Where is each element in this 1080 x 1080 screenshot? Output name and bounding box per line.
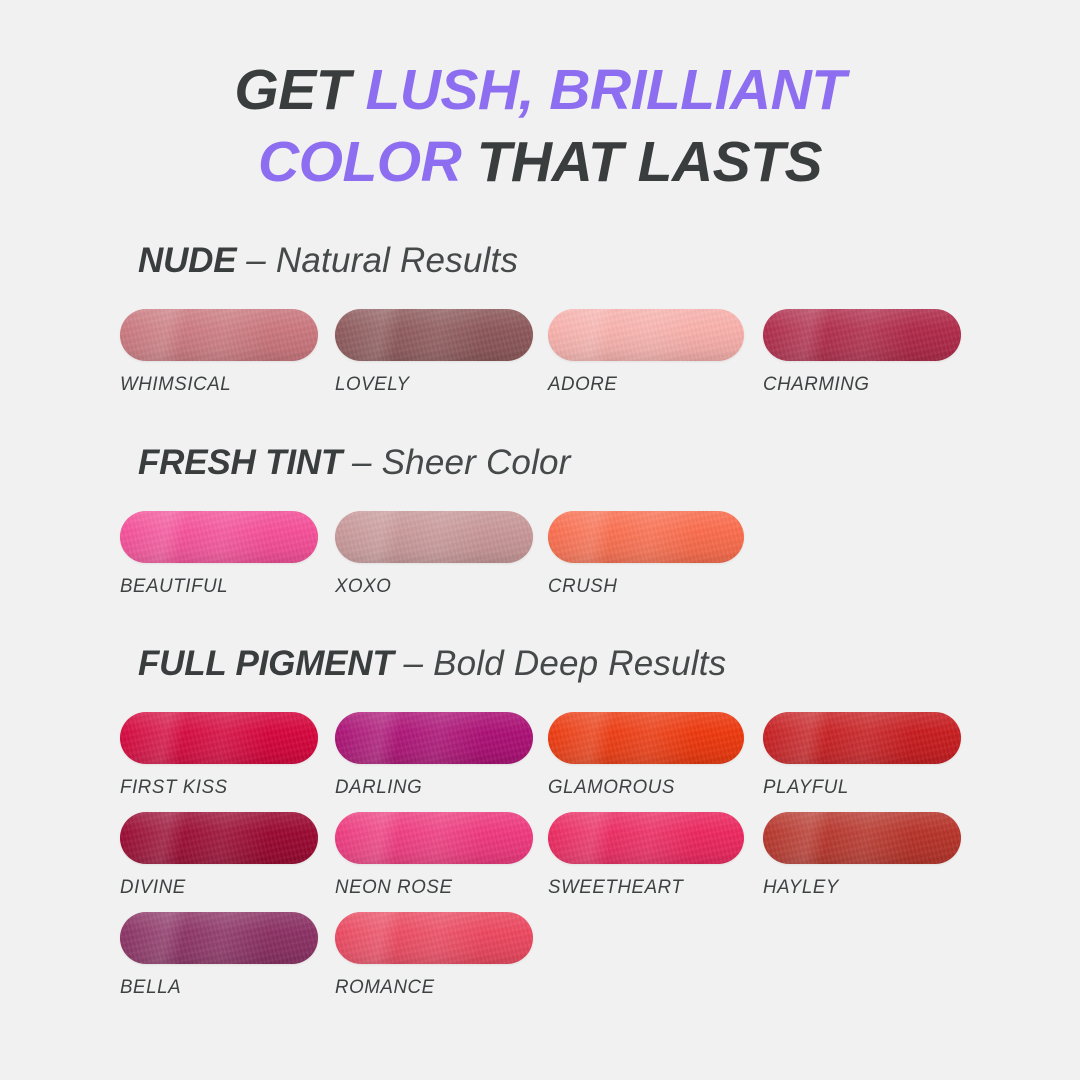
swatch-grain-overlay — [335, 812, 533, 864]
swatch-sheen-overlay — [120, 712, 318, 764]
swatch-sheen-overlay — [120, 511, 318, 563]
headline-line-1: GET LUSH, BRILLIANT — [0, 54, 1080, 126]
section-category-label: FULL PIGMENT — [138, 644, 394, 683]
shade-chart-page: GET LUSH, BRILLIANT COLOR THAT LASTS NUD… — [0, 0, 1080, 1080]
swatch-name-label: LOVELY — [335, 373, 525, 395]
headline-segment-color: COLOR — [258, 130, 461, 194]
swatch-grain-overlay — [335, 712, 533, 764]
swatch-grain-overlay — [548, 511, 744, 563]
swatch-color-chip[interactable] — [548, 712, 744, 764]
swatch-sheen-overlay — [335, 309, 533, 361]
swatch-edge-overlay — [548, 812, 744, 864]
swatch-edge-overlay — [763, 309, 961, 361]
section-description-label: – Sheer Color — [342, 443, 570, 482]
headline-segment-that-lasts: THAT LASTS — [461, 130, 822, 194]
swatch-name-label: NEON ROSE — [335, 876, 525, 898]
shade-swatch-first-kiss[interactable]: FIRST KISS — [120, 712, 318, 798]
shade-section-full-pigment: FULL PIGMENT – Bold Deep ResultsFIRST KI… — [0, 644, 1080, 1012]
swatch-edge-overlay — [335, 309, 533, 361]
swatch-sheen-overlay — [548, 511, 744, 563]
section-category-label: NUDE — [138, 241, 236, 280]
shade-swatch-neon-rose[interactable]: NEON ROSE — [335, 812, 533, 898]
swatch-sheen-overlay — [120, 309, 318, 361]
swatch-row: DIVINENEON ROSESWEETHEARTHAYLEY — [0, 812, 1080, 912]
swatch-sheen-overlay — [120, 812, 318, 864]
shade-section-fresh-tint: FRESH TINT – Sheer ColorBEAUTIFULXOXOCRU… — [0, 443, 1080, 611]
swatch-sheen-overlay — [120, 912, 318, 964]
shade-swatch-lovely[interactable]: LOVELY — [335, 309, 533, 395]
swatch-name-label: HAYLEY — [763, 876, 953, 898]
swatch-color-chip[interactable] — [763, 812, 961, 864]
section-header: FRESH TINT – Sheer Color — [0, 443, 1080, 483]
swatch-color-chip[interactable] — [548, 309, 744, 361]
shade-swatch-hayley[interactable]: HAYLEY — [763, 812, 961, 898]
headline-segment-get: GET — [234, 58, 365, 122]
swatch-name-label: BEAUTIFUL — [120, 575, 310, 597]
swatch-row: FIRST KISSDARLINGGLAMOROUSPLAYFUL — [0, 712, 1080, 812]
swatch-grain-overlay — [335, 309, 533, 361]
swatch-edge-overlay — [763, 812, 961, 864]
swatch-edge-overlay — [120, 912, 318, 964]
swatch-name-label: WHIMSICAL — [120, 373, 310, 395]
swatch-sheen-overlay — [548, 812, 744, 864]
section-description-label: – Bold Deep Results — [394, 644, 727, 683]
swatch-sheen-overlay — [763, 812, 961, 864]
swatch-name-label: PLAYFUL — [763, 776, 953, 798]
swatch-grain-overlay — [335, 511, 533, 563]
swatch-color-chip[interactable] — [120, 511, 318, 563]
shade-swatch-beautiful[interactable]: BEAUTIFUL — [120, 511, 318, 597]
swatch-edge-overlay — [548, 309, 744, 361]
shade-swatch-charming[interactable]: CHARMING — [763, 309, 961, 395]
shade-swatch-romance[interactable]: ROMANCE — [335, 912, 533, 998]
shade-swatch-adore[interactable]: ADORE — [548, 309, 744, 395]
swatch-name-label: CRUSH — [548, 575, 736, 597]
swatch-edge-overlay — [548, 511, 744, 563]
swatch-edge-overlay — [335, 511, 533, 563]
shade-swatch-xoxo[interactable]: XOXO — [335, 511, 533, 597]
swatch-edge-overlay — [120, 712, 318, 764]
swatch-sheen-overlay — [335, 712, 533, 764]
swatch-color-chip[interactable] — [335, 912, 533, 964]
swatch-grain-overlay — [548, 309, 744, 361]
section-description-label: – Natural Results — [236, 241, 518, 280]
swatch-grain-overlay — [763, 712, 961, 764]
shade-swatch-playful[interactable]: PLAYFUL — [763, 712, 961, 798]
swatch-color-chip[interactable] — [335, 812, 533, 864]
swatch-row: BEAUTIFULXOXOCRUSH — [0, 511, 1080, 611]
swatch-grain-overlay — [335, 912, 533, 964]
swatch-grain-overlay — [548, 712, 744, 764]
swatch-name-label: CHARMING — [763, 373, 953, 395]
shade-section-nude: NUDE – Natural ResultsWHIMSICALLOVELYADO… — [0, 241, 1080, 409]
swatch-name-label: DIVINE — [120, 876, 310, 898]
swatch-color-chip[interactable] — [548, 511, 744, 563]
swatch-edge-overlay — [120, 309, 318, 361]
swatch-sheen-overlay — [763, 712, 961, 764]
section-header: FULL PIGMENT – Bold Deep Results — [0, 644, 1080, 684]
swatch-grain-overlay — [120, 812, 318, 864]
swatch-grain-overlay — [548, 812, 744, 864]
swatch-color-chip[interactable] — [120, 812, 318, 864]
swatch-grain-overlay — [120, 309, 318, 361]
shade-swatch-bella[interactable]: BELLA — [120, 912, 318, 998]
swatch-edge-overlay — [120, 511, 318, 563]
swatch-edge-overlay — [335, 712, 533, 764]
shade-swatch-darling[interactable]: DARLING — [335, 712, 533, 798]
headline-line-2: COLOR THAT LASTS — [0, 126, 1080, 198]
swatch-sheen-overlay — [335, 511, 533, 563]
shade-swatch-divine[interactable]: DIVINE — [120, 812, 318, 898]
swatch-sheen-overlay — [763, 309, 961, 361]
shade-swatch-glamorous[interactable]: GLAMOROUS — [548, 712, 744, 798]
swatch-name-label: SWEETHEART — [548, 876, 736, 898]
swatch-sheen-overlay — [548, 712, 744, 764]
section-category-label: FRESH TINT — [138, 443, 342, 482]
swatch-sheen-overlay — [548, 309, 744, 361]
swatch-color-chip[interactable] — [335, 712, 533, 764]
swatch-edge-overlay — [335, 812, 533, 864]
page-title: GET LUSH, BRILLIANT COLOR THAT LASTS — [0, 54, 1080, 198]
swatch-name-label: GLAMOROUS — [548, 776, 736, 798]
swatch-sheen-overlay — [335, 812, 533, 864]
swatch-color-chip[interactable] — [120, 712, 318, 764]
swatch-grain-overlay — [763, 812, 961, 864]
swatch-color-chip[interactable] — [120, 309, 318, 361]
swatch-grain-overlay — [120, 912, 318, 964]
swatch-color-chip[interactable] — [120, 912, 318, 964]
swatch-edge-overlay — [763, 712, 961, 764]
swatch-grain-overlay — [120, 511, 318, 563]
swatch-edge-overlay — [120, 812, 318, 864]
swatch-row: WHIMSICALLOVELYADORECHARMING — [0, 309, 1080, 409]
swatch-name-label: ADORE — [548, 373, 736, 395]
headline-segment-lush-brilliant: LUSH, BRILLIANT — [365, 58, 845, 122]
shade-swatch-crush[interactable]: CRUSH — [548, 511, 744, 597]
swatch-row: BELLAROMANCE — [0, 912, 1080, 1012]
swatch-color-chip[interactable] — [335, 511, 533, 563]
swatch-name-label: FIRST KISS — [120, 776, 310, 798]
swatch-color-chip[interactable] — [763, 712, 961, 764]
swatch-name-label: XOXO — [335, 575, 525, 597]
swatch-grain-overlay — [763, 309, 961, 361]
swatch-sheen-overlay — [335, 912, 533, 964]
swatch-edge-overlay — [335, 912, 533, 964]
swatch-color-chip[interactable] — [548, 812, 744, 864]
swatch-color-chip[interactable] — [763, 309, 961, 361]
swatch-edge-overlay — [548, 712, 744, 764]
shade-swatch-sweetheart[interactable]: SWEETHEART — [548, 812, 744, 898]
swatch-color-chip[interactable] — [335, 309, 533, 361]
swatch-name-label: DARLING — [335, 776, 525, 798]
swatch-grain-overlay — [120, 712, 318, 764]
shade-swatch-whimsical[interactable]: WHIMSICAL — [120, 309, 318, 395]
swatch-name-label: ROMANCE — [335, 976, 525, 998]
section-header: NUDE – Natural Results — [0, 241, 1080, 281]
swatch-name-label: BELLA — [120, 976, 310, 998]
